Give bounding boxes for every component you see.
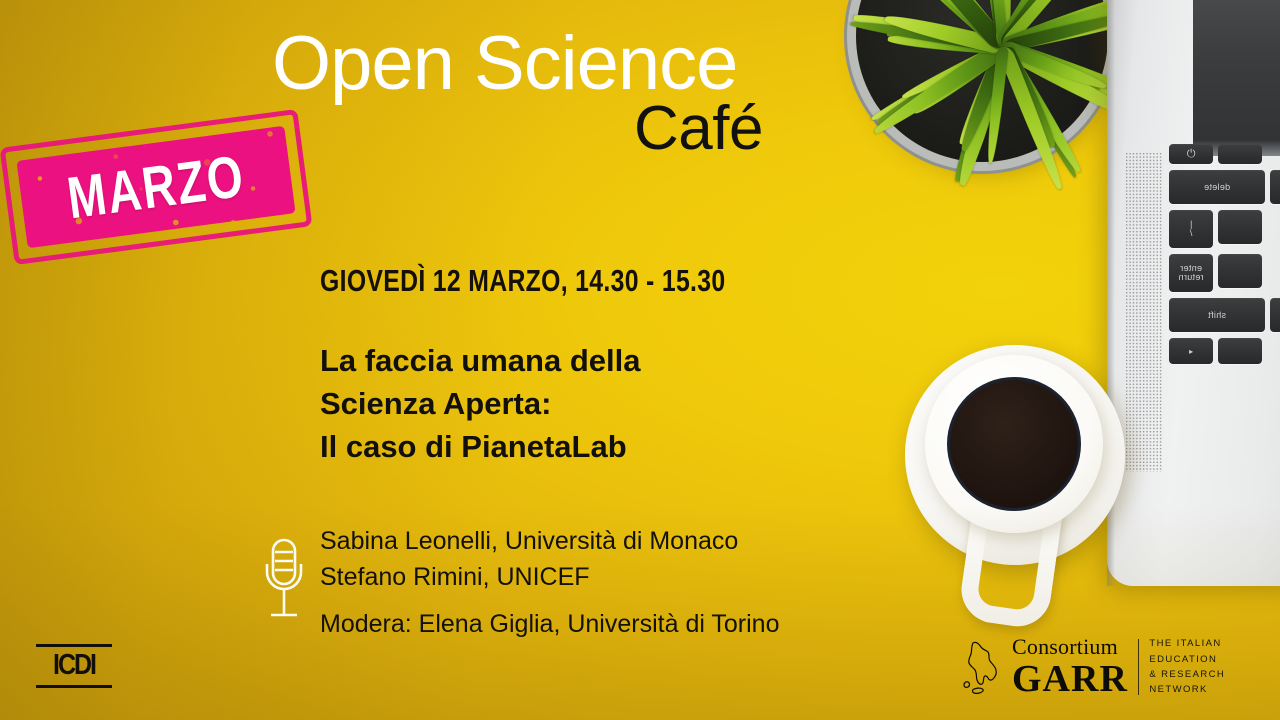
laptop-photo: ⏻ delete | / enter return [1107, 0, 1280, 586]
garr-divider [1138, 639, 1140, 695]
key-delete: delete [1169, 170, 1265, 204]
garr-tagline: THE ITALIAN EDUCATION & RESEARCH NETWORK [1149, 636, 1225, 698]
speaker-line-1: Sabina Leonelli, Università di Monaco [320, 524, 738, 560]
talk-title-line1: La faccia umana della [320, 340, 640, 383]
garr-logo: Consortium GARR THE ITALIAN EDUCATION & … [962, 636, 1225, 698]
laptop-keyboard: ⏻ delete | / enter return [1169, 144, 1280, 370]
key-blank-1 [1218, 144, 1262, 164]
garr-tagline-line4: NETWORK [1149, 682, 1225, 697]
speaker-line-2: Stefano Rimini, UNICEF [320, 560, 738, 596]
garr-tagline-line3: & RESEARCH [1149, 667, 1225, 682]
key-shift: shift [1169, 298, 1265, 332]
key-shift-label: shift [1208, 310, 1226, 320]
page-title-line1: Open Science [272, 26, 737, 102]
icdi-logo: ICDI [36, 644, 112, 696]
moderator-line: Modera: Elena Giglia, Università di Tori… [320, 610, 780, 639]
speaker-list: Sabina Leonelli, Università di Monaco St… [320, 524, 738, 595]
key-blank-2 [1270, 170, 1280, 204]
key-return-label: return [1178, 273, 1203, 282]
poster-canvas: ⏻ delete | / enter return [0, 0, 1280, 720]
key-power: ⏻ [1169, 144, 1213, 164]
month-stamp-badge: MARZO [0, 109, 312, 265]
key-backslash: | / [1169, 210, 1213, 248]
key-enter-label: enter [1180, 264, 1202, 273]
garr-tagline-line2: EDUCATION [1149, 652, 1225, 667]
garr-consortium-label: Consortium [1012, 636, 1128, 658]
key-return: enter return [1169, 254, 1213, 292]
garr-tagline-line1: THE ITALIAN [1149, 636, 1225, 651]
page-title-line2: Café [634, 98, 763, 160]
talk-title-line2: Scienza Aperta: [320, 383, 640, 426]
key-blank-6 [1218, 338, 1262, 364]
italy-map-icon [962, 639, 1002, 695]
icdi-logo-letters: ICDI [36, 644, 112, 687]
key-power-label: ⏻ [1187, 148, 1196, 161]
key-delete-label: delete [1204, 182, 1230, 192]
laptop-screen-hinge [1193, 0, 1280, 156]
key-arrow-left: ◂ [1169, 338, 1213, 364]
garr-name-label: GARR [1012, 660, 1128, 698]
key-blank-3 [1218, 210, 1262, 244]
key-blank-5 [1270, 298, 1280, 332]
key-blank-4 [1218, 254, 1262, 288]
laptop-speaker-grille [1125, 152, 1163, 472]
key-slash-label: / [1190, 229, 1193, 238]
garr-wordmark: Consortium GARR [1012, 636, 1128, 698]
key-arrow-label: ◂ [1189, 347, 1193, 356]
talk-title-line3: Il caso di PianetaLab [320, 426, 640, 469]
coffee-liquid [950, 380, 1078, 508]
event-date: GIOVEDÌ 12 MARZO, 14.30 - 15.30 [320, 263, 726, 299]
key-pipe-label: | [1190, 220, 1193, 229]
talk-title: La faccia umana della Scienza Aperta: Il… [320, 340, 640, 468]
microphone-icon [258, 536, 310, 624]
